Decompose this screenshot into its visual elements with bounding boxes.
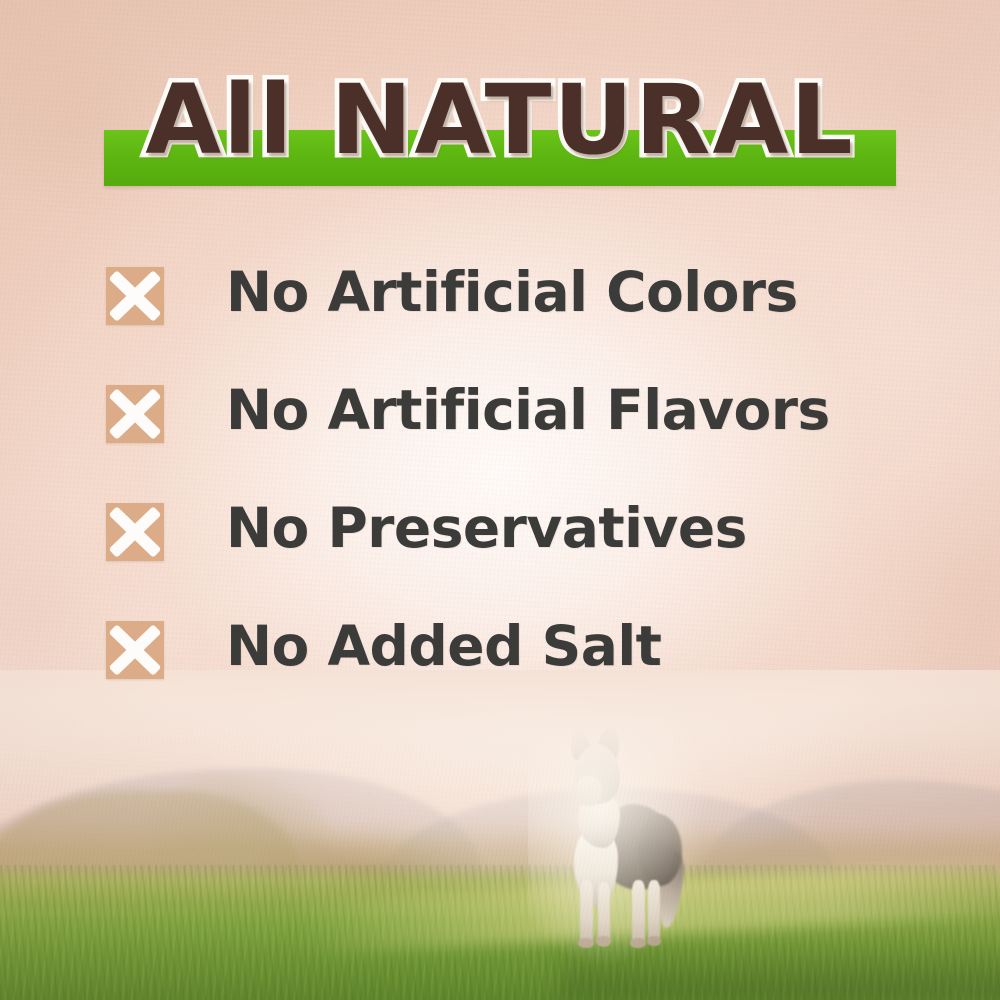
dog-leg-back-left — [632, 880, 645, 946]
dog-paw-2 — [596, 936, 611, 946]
poster: All NATURAL No Artificial Colors No Arti… — [0, 0, 1000, 1000]
list-item: No Artificial Colors — [0, 255, 1000, 373]
x-mark-glyph — [106, 621, 164, 679]
list-item: No Preservatives — [0, 491, 1000, 609]
list-item: No Artificial Flavors — [0, 373, 1000, 491]
list-item: No Added Salt — [0, 609, 1000, 727]
dog-paw-1 — [578, 938, 594, 948]
x-mark-glyph — [106, 385, 164, 443]
dog-paw-4 — [647, 936, 661, 946]
x-mark-glyph — [106, 503, 164, 561]
x-mark-icon — [106, 503, 164, 561]
x-mark-icon — [106, 621, 164, 679]
x-mark-icon — [106, 385, 164, 443]
title-block: All NATURAL — [0, 72, 1000, 200]
dog-paw-3 — [630, 938, 646, 948]
dog-leg-back-right — [648, 880, 660, 944]
x-mark-icon — [106, 267, 164, 325]
benefit-label: No Artificial Colors — [226, 255, 798, 329]
dog-leg-front-left — [580, 880, 593, 946]
dog-border-collie — [546, 730, 686, 948]
benefit-label: No Added Salt — [226, 609, 661, 683]
benefits-list: No Artificial Colors No Artificial Flavo… — [0, 255, 1000, 727]
x-mark-glyph — [106, 267, 164, 325]
dog-muzzle — [576, 776, 602, 806]
page-title: All NATURAL — [0, 72, 1000, 168]
benefit-label: No Preservatives — [226, 491, 747, 565]
benefit-label: No Artificial Flavors — [226, 373, 830, 447]
